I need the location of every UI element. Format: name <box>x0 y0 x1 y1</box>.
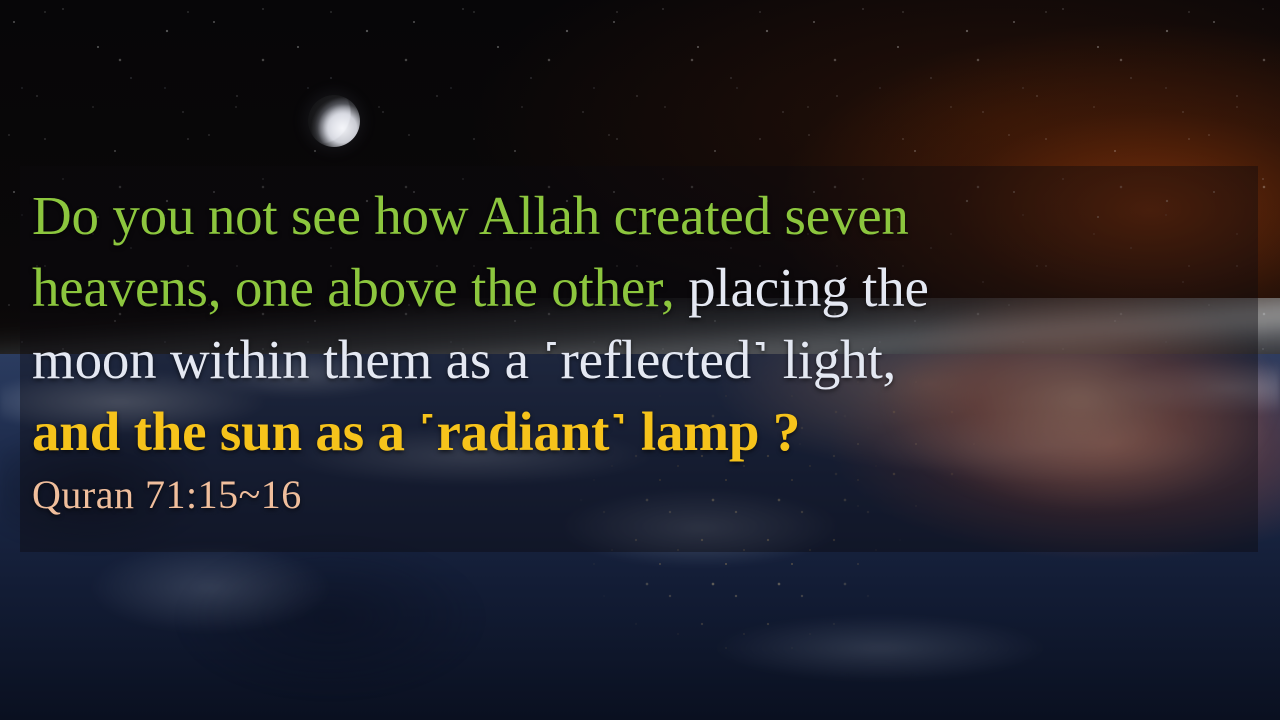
moon-lit-crescent <box>308 95 360 147</box>
verse-line-2-green: heavens, one above the other, <box>32 257 675 318</box>
quote-overlay-panel: Do you not see how Allah created seven h… <box>20 166 1258 552</box>
verse-line-1-text: Do you not see how Allah created seven <box>32 185 909 246</box>
verse-line-3: moon within them as a ˹reflected˺ light, <box>32 324 1258 396</box>
verse-line-4-text: and the sun as a ˹radiant˺ lamp ? <box>32 401 800 462</box>
verse-line-1: Do you not see how Allah created seven <box>32 180 1258 252</box>
verse-line-4: and the sun as a ˹radiant˺ lamp ? <box>32 396 1258 468</box>
verse-line-2-white: placing the <box>675 257 929 318</box>
crescent-moon-icon <box>308 95 360 147</box>
quote-image: Do you not see how Allah created seven h… <box>0 0 1280 720</box>
verse-line-2: heavens, one above the other, placing th… <box>32 252 1258 324</box>
verse-text: Do you not see how Allah created seven h… <box>32 180 1258 468</box>
verse-line-3-text: moon within them as a ˹reflected˺ light, <box>32 329 896 390</box>
verse-citation: Quran 71:15~16 <box>32 470 1258 520</box>
